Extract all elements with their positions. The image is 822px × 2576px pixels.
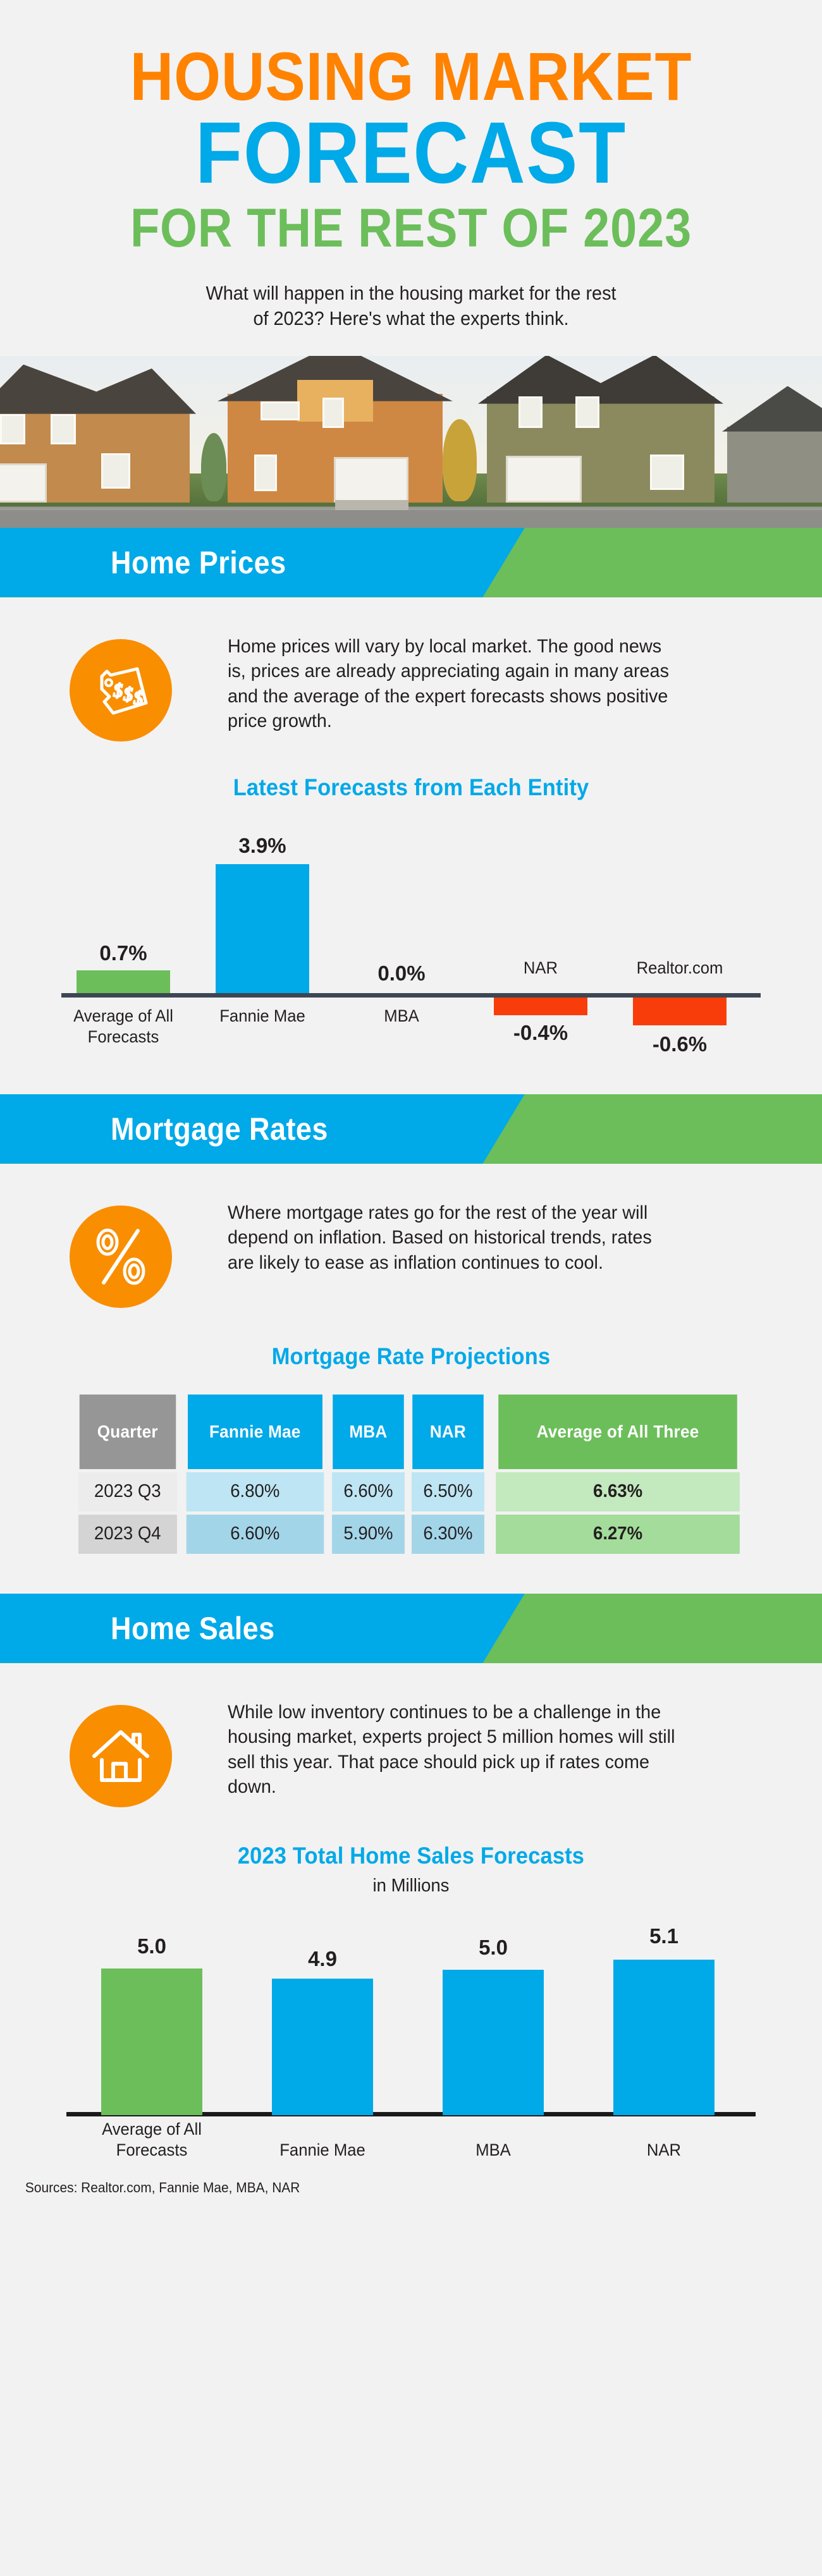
chart-2-value-label: 5.0 xyxy=(73,1934,231,1958)
page-title-line-3: FOR THE REST OF 2023 xyxy=(49,203,773,254)
photo-house-4 xyxy=(727,382,822,503)
chart-2-bar xyxy=(613,1960,715,2115)
section-banner-mortgage-rates: Mortgage Rates xyxy=(0,1094,822,1164)
house-window xyxy=(51,414,76,444)
svg-text:$: $ xyxy=(133,688,143,709)
page-title-line-1: HOUSING MARKET xyxy=(49,44,773,109)
photo-house-2 xyxy=(221,356,449,503)
section-body-mortgage-rates: Where mortgage rates go for the rest of … xyxy=(0,1164,822,1557)
chart-2-column: 5.0 MBA xyxy=(414,1923,572,2170)
chart-2-column: 4.9 Fannie Mae xyxy=(243,1923,402,2170)
chart-1-category-label: Average of All Forecasts xyxy=(59,1006,187,1047)
photo-road xyxy=(0,510,822,528)
chart-1-bar xyxy=(77,970,170,993)
chart-1-title: Latest Forecasts from Each Entity xyxy=(29,774,794,801)
table-row: 2023 Q3 6.80% 6.60% 6.50% 6.63% xyxy=(76,1472,746,1511)
chart-1-bar xyxy=(633,998,727,1025)
photo-house-3 xyxy=(481,356,721,503)
page-subtitle: What will happen in the housing market f… xyxy=(199,281,623,332)
house-roof xyxy=(0,365,196,414)
home-sales-body-text: While low inventory continues to be a ch… xyxy=(228,1700,677,1800)
chart-2-subtitle: in Millions xyxy=(21,1876,802,1896)
house-window xyxy=(261,401,300,420)
chart-2-bar xyxy=(443,1970,544,2115)
house-garage-door xyxy=(334,457,408,503)
chart-1-category-label: Fannie Mae xyxy=(199,1006,326,1027)
section-body-home-prices: $ $ $ Home prices will vary by local mar… xyxy=(0,597,822,1070)
table-row: 2023 Q4 6.60% 5.90% 6.30% 6.27% xyxy=(76,1515,746,1554)
chart-1-category-label: Realtor.com xyxy=(616,958,743,979)
house-window xyxy=(322,398,344,428)
cell-mba: 6.60% xyxy=(332,1472,405,1511)
house-window xyxy=(101,453,130,489)
house-window xyxy=(254,455,277,491)
house-roof xyxy=(478,356,723,404)
cell-quarter: 2023 Q3 xyxy=(78,1472,176,1511)
neighborhood-photo xyxy=(0,356,822,528)
chart-1-column: NAR -0.4% xyxy=(477,824,604,1070)
price-tag-dollar-icon: $ $ $ xyxy=(70,639,172,742)
cell-quarter: 2023 Q4 xyxy=(78,1515,176,1554)
svg-text:$: $ xyxy=(113,680,123,701)
chart-2-column: 5.1 NAR xyxy=(585,1923,743,2170)
section-body-home-sales: While low inventory continues to be a ch… xyxy=(0,1663,822,2196)
chart-2-title: 2023 Total Home Sales Forecasts xyxy=(29,1843,794,1869)
photo-tree xyxy=(201,433,226,501)
chart-2-bar xyxy=(272,1979,373,2115)
chart-1-value-label: 0.0% xyxy=(338,961,465,986)
section-title-mortgage-rates: Mortgage Rates xyxy=(111,1111,328,1147)
mortgage-rates-intro: Where mortgage rates go for the rest of … xyxy=(0,1164,822,1308)
chart-1-column: 3.9% Fannie Mae xyxy=(199,824,326,1070)
cell-fannie-mae: 6.80% xyxy=(186,1472,323,1511)
table-header-row: Quarter Fannie Mae MBA NAR Average of Al… xyxy=(76,1395,746,1469)
house-icon xyxy=(70,1705,172,1807)
section-banner-home-sales: Home Sales xyxy=(0,1594,822,1663)
mortgage-rates-body-text: Where mortgage rates go for the rest of … xyxy=(228,1200,677,1276)
chart-1-bar xyxy=(216,864,309,993)
chart-1-category-label: MBA xyxy=(338,1006,465,1027)
table-header-quarter: Quarter xyxy=(80,1395,176,1469)
chart-2-bar xyxy=(101,1969,202,2115)
house-window xyxy=(650,455,684,490)
cell-nar: 6.30% xyxy=(412,1515,484,1554)
chart-2-column: 5.0 Average of All Forecasts xyxy=(73,1923,231,2170)
house-window xyxy=(518,396,543,428)
chart-1-value-label: -0.6% xyxy=(616,1032,743,1056)
section-title-home-prices: Home Prices xyxy=(111,544,286,581)
chart-1-value-label: 3.9% xyxy=(199,834,326,858)
house-garage-door xyxy=(0,463,47,503)
table-header-nar: NAR xyxy=(412,1395,483,1469)
infographic-page: HOUSING MARKET FORECAST FOR THE REST OF … xyxy=(0,0,822,2576)
cell-average: 6.63% xyxy=(496,1472,740,1511)
chart-2-value-label: 5.1 xyxy=(585,1924,743,1948)
chart-latest-forecasts: 0.7% Average of All Forecasts 3.9% Fanni… xyxy=(54,824,768,1070)
chart-1-column: 0.0% MBA xyxy=(338,824,465,1070)
house-wall xyxy=(727,427,822,503)
rate-table-title: Mortgage Rate Projections xyxy=(29,1343,794,1370)
cell-nar: 6.50% xyxy=(412,1472,484,1511)
table-header-mba: MBA xyxy=(333,1395,403,1469)
chart-1-value-label: -0.4% xyxy=(477,1021,604,1045)
sources-note: Sources: Realtor.com, Fannie Mae, MBA, N… xyxy=(0,2170,781,2196)
house-window xyxy=(0,414,25,444)
percent-icon xyxy=(70,1206,172,1308)
chart-1-column: 0.7% Average of All Forecasts xyxy=(60,824,187,1070)
mortgage-rate-table: Quarter Fannie Mae MBA NAR Average of Al… xyxy=(73,1391,749,1557)
section-banner-home-prices: Home Prices xyxy=(0,528,822,597)
chart-2-value-label: 4.9 xyxy=(243,1947,402,1971)
chart-2-category-label: Average of All Forecasts xyxy=(77,2119,227,2161)
photo-house-1 xyxy=(0,363,190,503)
chart-1-bar xyxy=(494,998,587,1015)
chart-2-category-label: MBA xyxy=(418,2140,568,2161)
cell-fannie-mae: 6.60% xyxy=(186,1515,323,1554)
cell-mba: 5.90% xyxy=(332,1515,405,1554)
photo-tree xyxy=(443,419,477,501)
chart-1-column: Realtor.com -0.6% xyxy=(616,824,743,1070)
page-title-line-2: FORECAST xyxy=(49,113,773,195)
house-window xyxy=(575,396,599,428)
section-title-home-sales: Home Sales xyxy=(111,1610,275,1647)
chart-1-category-label: NAR xyxy=(477,958,604,979)
chart-2-category-label: NAR xyxy=(589,2140,739,2161)
table-header-average: Average of All Three xyxy=(498,1395,737,1469)
table-header-fannie-mae: Fannie Mae xyxy=(188,1395,322,1469)
chart-total-home-sales: 5.0 Average of All Forecasts 4.9 Fannie … xyxy=(60,1923,762,2170)
chart-1-value-label: 0.7% xyxy=(60,941,187,965)
home-sales-intro: While low inventory continues to be a ch… xyxy=(0,1663,822,1807)
house-roof xyxy=(722,386,822,432)
house-garage-door xyxy=(506,456,582,503)
home-prices-intro: $ $ $ Home prices will vary by local mar… xyxy=(0,597,822,742)
chart-2-category-label: Fannie Mae xyxy=(247,2140,398,2161)
home-prices-body-text: Home prices will vary by local market. T… xyxy=(228,634,677,734)
chart-2-value-label: 5.0 xyxy=(414,1936,572,1960)
cell-average: 6.27% xyxy=(496,1515,740,1554)
svg-text:$: $ xyxy=(123,684,133,705)
header: HOUSING MARKET FORECAST FOR THE REST OF … xyxy=(0,0,822,332)
